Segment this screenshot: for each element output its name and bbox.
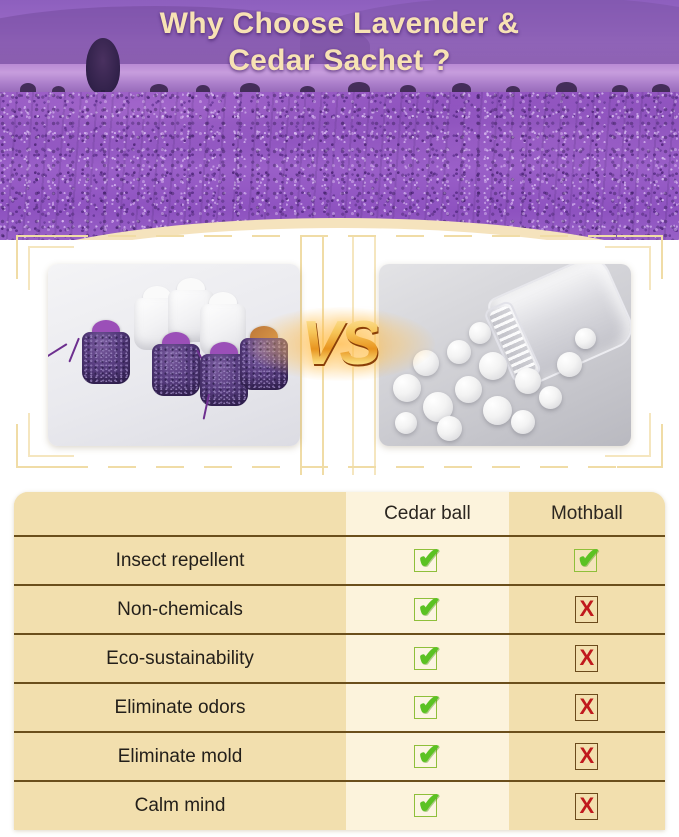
table-row: Eliminate mold ✔ X bbox=[14, 732, 665, 781]
check-icon: ✔ bbox=[414, 793, 440, 819]
cross-icon: X bbox=[575, 694, 598, 721]
comparison-table-wrapper: Cedar ball Mothball Insect repellent ✔ ✔… bbox=[14, 492, 665, 837]
mothball-value: X bbox=[509, 732, 665, 781]
feature-label: Non-chemicals bbox=[14, 585, 346, 634]
mothball-value: X bbox=[509, 683, 665, 732]
table-header-row: Cedar ball Mothball bbox=[14, 492, 665, 536]
table-row: Calm mind ✔ X bbox=[14, 781, 665, 830]
column-header-feature bbox=[14, 492, 346, 536]
cedar-ball-value: ✔ bbox=[346, 585, 509, 634]
mothball-value: X bbox=[509, 634, 665, 683]
comparison-table: Cedar ball Mothball Insect repellent ✔ ✔… bbox=[14, 492, 665, 830]
feature-label: Eliminate odors bbox=[14, 683, 346, 732]
mothball-value: X bbox=[509, 781, 665, 830]
table-row: Eco-sustainability ✔ X bbox=[14, 634, 665, 683]
page-title-line-1: Why Choose Lavender & bbox=[0, 6, 679, 43]
check-icon: ✔ bbox=[414, 695, 440, 721]
dashed-rule-top bbox=[60, 235, 619, 237]
check-icon: ✔ bbox=[414, 744, 440, 770]
dashed-rule-bottom bbox=[60, 466, 619, 468]
table-row: Insect repellent ✔ ✔ bbox=[14, 536, 665, 585]
column-header-mothball: Mothball bbox=[509, 492, 665, 536]
cedar-ball-value: ✔ bbox=[346, 683, 509, 732]
cedar-ball-value: ✔ bbox=[346, 536, 509, 585]
check-icon: ✔ bbox=[414, 646, 440, 672]
table-row: Non-chemicals ✔ X bbox=[14, 585, 665, 634]
cross-icon: X bbox=[575, 793, 598, 820]
check-icon: ✔ bbox=[414, 597, 440, 623]
mothball-value: X bbox=[509, 585, 665, 634]
vs-badge: VS bbox=[301, 313, 378, 375]
cross-icon: X bbox=[575, 645, 598, 672]
cross-icon: X bbox=[575, 596, 598, 623]
cross-icon: X bbox=[575, 743, 598, 770]
feature-label: Eliminate mold bbox=[14, 732, 346, 781]
cedar-ball-value: ✔ bbox=[346, 732, 509, 781]
page-title: Why Choose Lavender & Cedar Sachet ? bbox=[0, 6, 679, 79]
feature-label: Eco-sustainability bbox=[14, 634, 346, 683]
check-icon: ✔ bbox=[414, 548, 440, 574]
comparison-section: VS bbox=[0, 240, 679, 490]
column-header-cedar-ball: Cedar ball bbox=[346, 492, 509, 536]
feature-label: Calm mind bbox=[14, 781, 346, 830]
feature-label: Insect repellent bbox=[14, 536, 346, 585]
table-row: Eliminate odors ✔ X bbox=[14, 683, 665, 732]
table-body: Insect repellent ✔ ✔ Non-chemicals ✔ X E… bbox=[14, 536, 665, 830]
check-icon: ✔ bbox=[574, 548, 600, 574]
mothball-value: ✔ bbox=[509, 536, 665, 585]
hero-banner: Why Choose Lavender & Cedar Sachet ? bbox=[0, 0, 679, 262]
cedar-ball-value: ✔ bbox=[346, 634, 509, 683]
page-title-line-2: Cedar Sachet ? bbox=[0, 43, 679, 80]
cedar-ball-value: ✔ bbox=[346, 781, 509, 830]
